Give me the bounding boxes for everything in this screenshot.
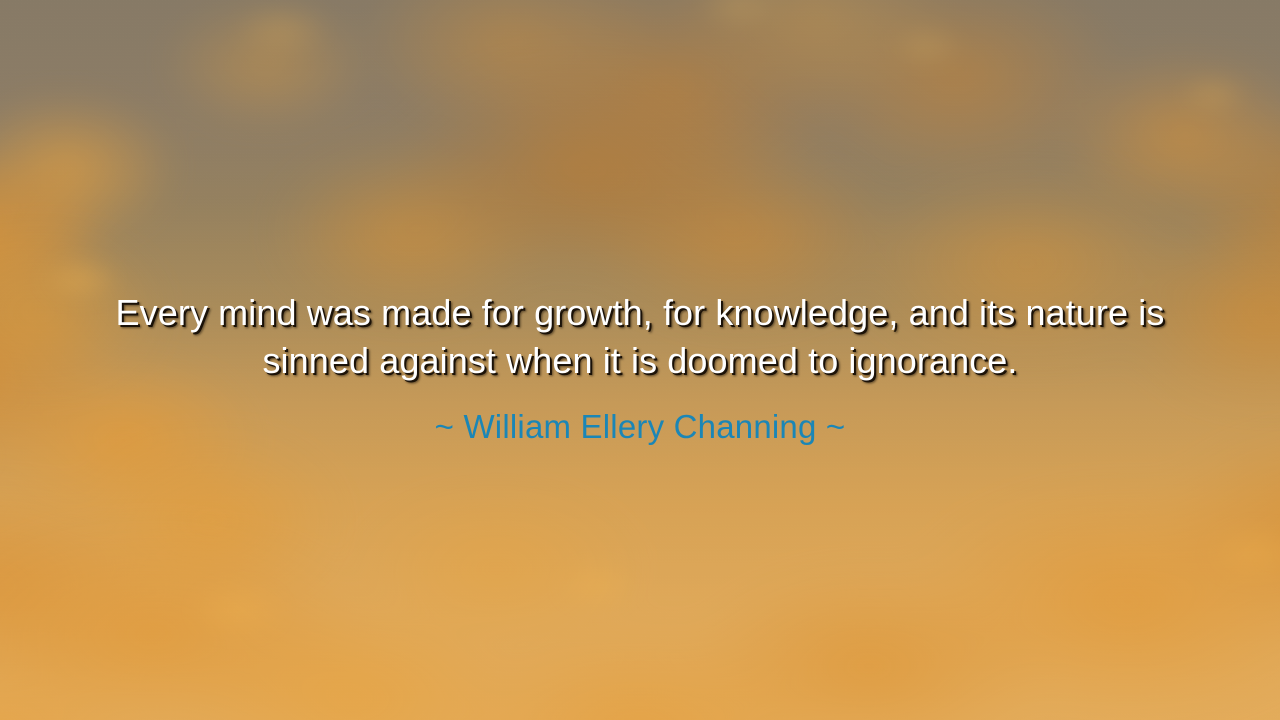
- quote-text: Every mind was made for growth, for know…: [60, 289, 1220, 385]
- attribution-block: ~ William Ellery Channing ~: [0, 405, 1280, 449]
- quote-line-1: Every mind was made for growth, for know…: [116, 292, 1129, 333]
- quote-wallpaper: Every mind was made for growth, for know…: [0, 0, 1280, 720]
- quote-block: Every mind was made for growth, for know…: [0, 289, 1280, 385]
- attribution-text: ~ William Ellery Channing ~: [0, 405, 1280, 449]
